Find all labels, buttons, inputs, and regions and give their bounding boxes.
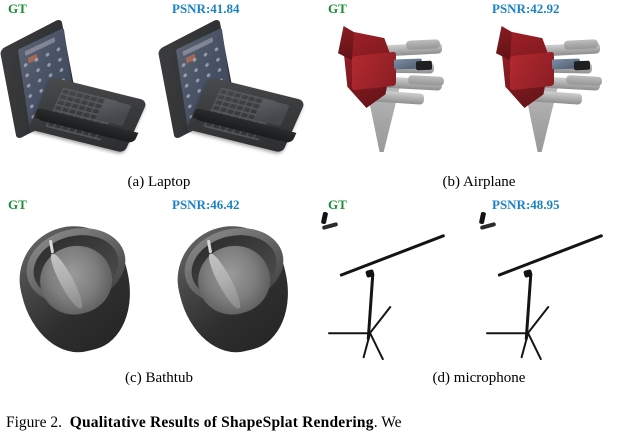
render-cell-bathtub-pred: PSNR:46.42 [160, 196, 315, 368]
microphone-leg-icon [486, 332, 528, 334]
render-cell-laptop-gt: GT [2, 0, 157, 172]
render-image-airplane-gt [322, 16, 477, 170]
microphone-boom-icon [498, 234, 603, 277]
subcaption-airplane: (b) Airplane [320, 172, 638, 192]
render-image-bathtub-gt [2, 212, 157, 366]
gt-label-microphone: GT [328, 197, 347, 213]
microphone-leg-icon [527, 306, 550, 334]
panel-bathtub: GT PSNR:46.42 [0, 196, 318, 392]
laptop-model-gt [2, 16, 157, 170]
airplane-midbody-icon [510, 52, 554, 91]
bathtub-model-gt [2, 212, 157, 366]
render-cell-microphone-pred: PSNR:48.95 [480, 196, 635, 368]
render-image-laptop-pred [160, 16, 315, 170]
laptop-model-pred [160, 16, 315, 170]
gt-label-laptop: GT [8, 1, 27, 17]
microphone-model-gt [322, 212, 477, 366]
microphone-capsule-icon [479, 212, 486, 225]
airplane-nose-icon [574, 61, 590, 71]
render-pair-bathtub: GT PSNR:46.42 [0, 196, 318, 368]
airplane-engine-icon [408, 75, 444, 86]
airplane-engine-icon [564, 39, 598, 50]
render-image-microphone-gt [322, 212, 477, 366]
psnr-label-bathtub: PSNR:46.42 [172, 197, 240, 213]
figure-caption-title: Qualitative Results of ShapeSplat Render… [70, 414, 374, 431]
panel-laptop: GT [0, 0, 318, 196]
figure-container: GT [0, 0, 640, 440]
microphone-leg-icon [369, 333, 384, 361]
render-cell-airplane-gt: GT [322, 0, 477, 172]
render-cell-microphone-gt: GT [322, 196, 477, 368]
figure-caption-number: Figure 2. [6, 414, 62, 431]
render-cell-airplane-pred: PSNR:42.92 [480, 0, 635, 172]
render-image-bathtub-pred [160, 212, 315, 366]
render-image-microphone-pred [480, 212, 635, 366]
psnr-label-microphone: PSNR:48.95 [492, 197, 560, 213]
microphone-capsule-icon [321, 212, 328, 225]
psnr-label-laptop: PSNR:41.84 [172, 1, 240, 17]
microphone-model-pred [480, 212, 635, 366]
panel-airplane: GT [320, 0, 638, 196]
microphone-leg-icon [328, 332, 370, 334]
subcaption-bathtub: (c) Bathtub [0, 368, 318, 388]
airplane-fin-icon [338, 26, 354, 60]
figure-caption-body: . We [374, 414, 402, 431]
render-cell-bathtub-gt: GT [2, 196, 157, 368]
psnr-label-airplane: PSNR:42.92 [492, 1, 560, 17]
subcaption-laptop: (a) Laptop [0, 172, 318, 192]
gt-label-airplane: GT [328, 1, 347, 17]
microphone-boom-icon [340, 234, 445, 277]
render-pair-airplane: GT [320, 0, 638, 172]
render-image-airplane-pred [480, 16, 635, 170]
microphone-leg-icon [527, 333, 542, 361]
airplane-nose-icon [416, 61, 432, 71]
subcaption-microphone: (d) microphone [320, 368, 638, 388]
figure-caption: Figure 2. Qualitative Results of ShapeSp… [6, 412, 636, 433]
render-pair-laptop: GT [0, 0, 318, 172]
airplane-fin-icon [496, 26, 512, 60]
gt-label-bathtub: GT [8, 197, 27, 213]
panel-microphone: GT PSNR:48.95 [320, 196, 638, 392]
render-cell-laptop-pred: PSNR:41.84 [160, 0, 315, 172]
airplane-model-gt [322, 16, 477, 170]
airplane-midbody-icon [352, 52, 396, 91]
airplane-model-pred [480, 16, 635, 170]
airplane-engine-icon [406, 39, 440, 50]
render-image-laptop-gt [2, 16, 157, 170]
airplane-engine-icon [566, 75, 602, 86]
microphone-leg-icon [369, 306, 392, 334]
render-pair-microphone: GT PSNR:48.95 [320, 196, 638, 368]
bathtub-model-pred [160, 212, 315, 366]
